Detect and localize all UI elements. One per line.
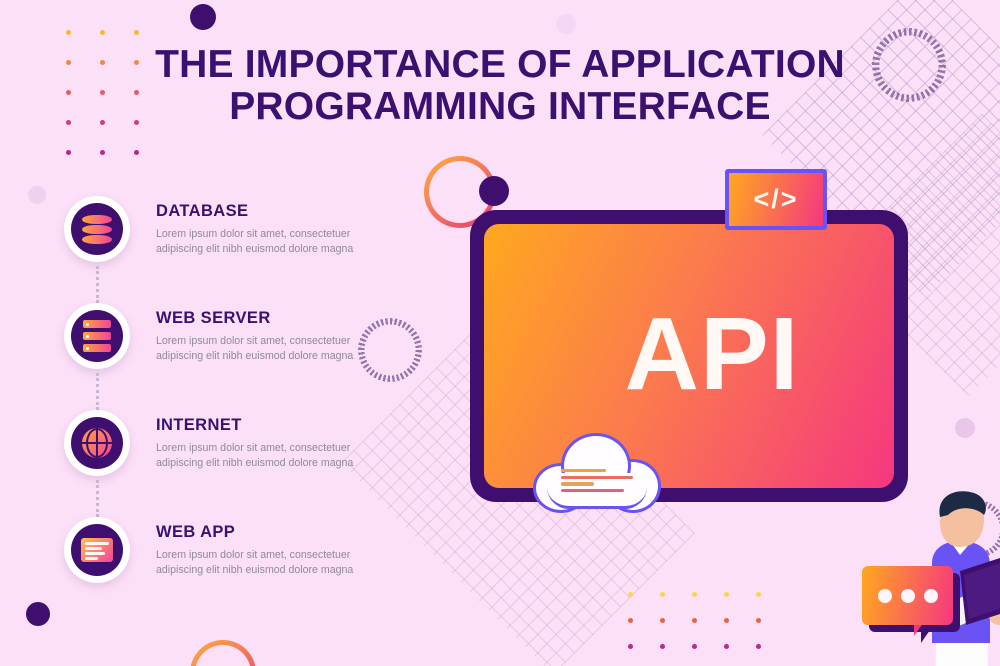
solid-dot-top-left [190, 4, 216, 30]
connector-line [96, 480, 99, 517]
list-item-title: INTERNET [156, 416, 361, 435]
api-label: API [625, 302, 800, 405]
gradient-ring-bottom-left [190, 640, 256, 666]
chat-bubble-icon [862, 566, 960, 632]
list-item-web-app[interactable]: WEB APP Lorem ipsum dolor sit amet, cons… [64, 517, 364, 624]
connector-line [96, 373, 99, 410]
list-item-description: Lorem ipsum dolor sit amet, consectetuer… [156, 441, 361, 472]
page-title-line-1: THE IMPORTANCE OF APPLICATION [155, 43, 845, 86]
solid-dot-light-title [556, 14, 576, 34]
globe-icon [82, 428, 112, 458]
solid-dot-ring-accent [479, 176, 509, 206]
chat-dot [924, 589, 938, 603]
server-icon [83, 320, 111, 352]
solid-dot-light-right [955, 418, 975, 438]
list-item-description: Lorem ipsum dolor sit amet, consectetuer… [156, 548, 361, 579]
sunburst-ring-top-right [872, 28, 946, 102]
globe-badge [64, 410, 130, 476]
list-item-internet[interactable]: INTERNET Lorem ipsum dolor sit amet, con… [64, 410, 364, 517]
cloud-data-lines [561, 469, 633, 495]
database-icon [82, 214, 112, 244]
cloud-icon [533, 429, 661, 513]
database-badge [64, 196, 130, 262]
browser-window-badge [64, 517, 130, 583]
list-item-description: Lorem ipsum dolor sit amet, consectetuer… [156, 334, 361, 365]
list-item-database[interactable]: DATABASE Lorem ipsum dolor sit amet, con… [64, 196, 364, 303]
connector-line [96, 266, 99, 303]
solid-dot-light-top-left [28, 186, 46, 204]
list-item-description: Lorem ipsum dolor sit amet, consectetuer… [156, 227, 361, 258]
infographic-canvas: THE IMPORTANCE OF APPLICATION PROGRAMMIN… [0, 0, 1000, 666]
solid-dot-bottom-left [26, 602, 50, 626]
list-item-title: DATABASE [156, 202, 361, 221]
server-badge [64, 303, 130, 369]
list-item-web-server[interactable]: WEB SERVER Lorem ipsum dolor sit amet, c… [64, 303, 364, 410]
chat-dot [901, 589, 915, 603]
chat-bubble-body [862, 566, 953, 625]
list-item-title: WEB SERVER [156, 309, 361, 328]
chat-dot [878, 589, 892, 603]
browser-window-icon [81, 538, 113, 562]
page-title: THE IMPORTANCE OF APPLICATION PROGRAMMIN… [120, 44, 880, 128]
code-tag-icon: </> [725, 169, 827, 230]
dot-grid-bottom-center [628, 592, 788, 666]
page-title-line-2: PROGRAMMING INTERFACE [120, 86, 880, 128]
feature-list: DATABASE Lorem ipsum dolor sit amet, con… [64, 196, 364, 624]
sunburst-ring-mid-left [358, 318, 422, 382]
list-item-title: WEB APP [156, 523, 361, 542]
